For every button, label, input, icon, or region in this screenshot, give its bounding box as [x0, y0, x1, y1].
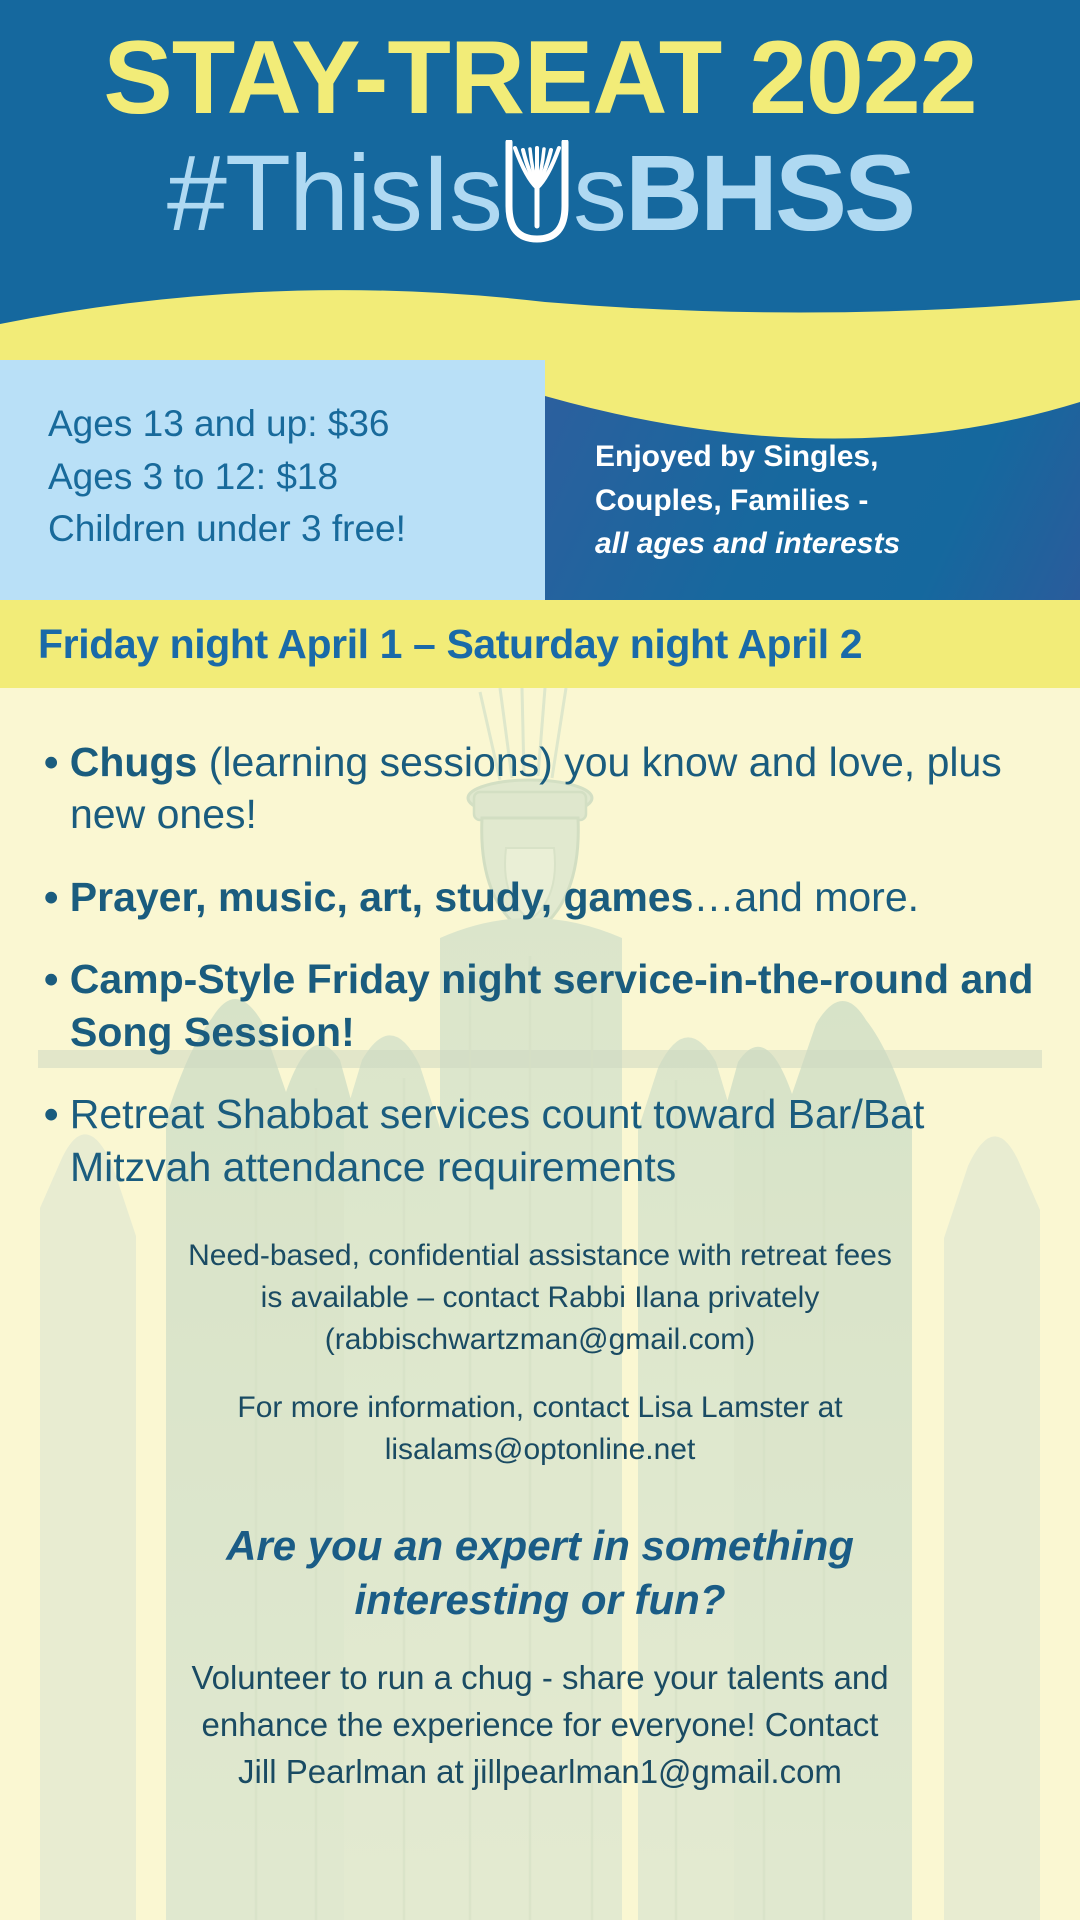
bullet-bold-text: Prayer, music, art, study, games [70, 874, 694, 920]
more-info-line-1: For more information, contact Lisa Lamst… [92, 1387, 988, 1429]
poster-header: STAY-TREAT 2022 #ThisIs sBHSS [0, 0, 1080, 360]
date-text: Friday night April 1 – Saturday night Ap… [38, 621, 862, 668]
assistance-line-1: Need-based, confidential assistance with… [92, 1235, 988, 1277]
audience-line-1: Enjoyed by Singles, [595, 435, 1080, 479]
audience-line-3: all ages and interests [595, 522, 1080, 566]
price-line: Ages 3 to 12: $18 [48, 451, 545, 504]
hashtag-s: s [573, 132, 625, 253]
hashtag-prefix: #ThisIs [167, 132, 501, 253]
volunteer-line-1: Volunteer to run a chug - share your tal… [70, 1655, 1010, 1702]
hashtag-title: #ThisIs sBHSS [0, 139, 1080, 247]
audience-line-2: Couples, Families - [595, 479, 1080, 523]
assistance-paragraph: Need-based, confidential assistance with… [0, 1235, 1080, 1361]
pricing-box: Ages 13 and up: $36 Ages 3 to 12: $18 Ch… [0, 360, 545, 600]
bullet-rest-text: (learning sessions) you know and love, p… [70, 739, 1002, 837]
bullet-rest-text: Retreat Shabbat services count toward Ba… [70, 1091, 925, 1189]
price-line: Children under 3 free! [48, 503, 545, 556]
page-title: STAY-TREAT 2022 [0, 24, 1080, 133]
poster-body: • Chugs (learning sessions) you know and… [0, 688, 1080, 1920]
assistance-email: (rabbischwartzman@gmail.com) [92, 1319, 988, 1361]
audience-box: Enjoyed by Singles, Couples, Families - … [545, 360, 1080, 600]
volunteer-line-2: enhance the experience for everyone! Con… [70, 1702, 1010, 1749]
bullet-bold-text: Chugs [70, 739, 198, 785]
assistance-line-2: is available – contact Rabbi Ilana priva… [92, 1277, 988, 1319]
expert-line-1: Are you an expert in something [80, 1519, 1000, 1573]
bullet-dot-icon: • [44, 956, 58, 1002]
audience-text: Enjoyed by Singles, Couples, Families - … [545, 360, 1080, 566]
more-info-paragraph: For more information, contact Lisa Lamst… [0, 1387, 1080, 1471]
list-item: • Chugs (learning sessions) you know and… [44, 736, 1040, 841]
list-item: • Prayer, music, art, study, games…and m… [44, 871, 1040, 923]
price-line: Ages 13 and up: $36 [48, 398, 545, 451]
bullet-dot-icon: • [44, 874, 58, 920]
hashtag-brand: BHSS [625, 132, 913, 253]
info-row: Ages 13 and up: $36 Ages 3 to 12: $18 Ch… [0, 360, 1080, 600]
feature-bullet-list: • Chugs (learning sessions) you know and… [0, 736, 1080, 1193]
menorah-shield-icon [501, 140, 573, 244]
list-item: • Retreat Shabbat services count toward … [44, 1088, 1040, 1193]
bullet-rest-text: …and more. [693, 874, 919, 920]
volunteer-line-3: Jill Pearlman at jillpearlman1@gmail.com [70, 1749, 1010, 1796]
expert-headline: Are you an expert in something interesti… [0, 1519, 1080, 1627]
expert-line-2: interesting or fun? [80, 1573, 1000, 1627]
bullet-dot-icon: • [44, 1091, 58, 1137]
bullet-dot-icon: • [44, 739, 58, 785]
more-info-email: lisalams@optonline.net [92, 1429, 988, 1471]
bullet-bold-text: Camp-Style Friday night service-in-the-r… [70, 956, 1034, 1054]
date-banner: Friday night April 1 – Saturday night Ap… [0, 600, 1080, 688]
list-item: • Camp-Style Friday night service-in-the… [44, 953, 1040, 1058]
volunteer-paragraph: Volunteer to run a chug - share your tal… [0, 1655, 1080, 1796]
flyer-poster: STAY-TREAT 2022 #ThisIs sBHSS [0, 0, 1080, 1920]
